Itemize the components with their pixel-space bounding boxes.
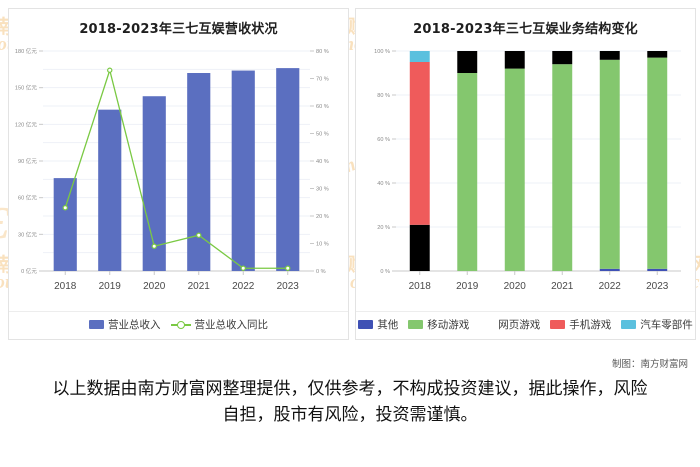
legend-swatch-icon bbox=[550, 320, 565, 329]
x-axis-label: 2023 bbox=[646, 281, 669, 292]
revenue-yoy-point bbox=[108, 68, 112, 72]
x-axis-label: 2019 bbox=[99, 281, 122, 292]
legend-item-other[interactable]: 其他 bbox=[358, 317, 398, 332]
revenue-bar bbox=[98, 110, 121, 271]
revenue-yoy-point bbox=[241, 266, 245, 270]
legend-label: 营业总收入同比 bbox=[195, 317, 269, 332]
legend-swatch-icon bbox=[408, 320, 423, 329]
business-structure-chart-legend: 其他移动游戏网页游戏手机游戏汽车零部件 bbox=[356, 311, 695, 339]
y-axis-label: 90 亿元 bbox=[18, 157, 37, 165]
legend-swatch-icon bbox=[358, 320, 373, 329]
stacked-bar-segment bbox=[410, 225, 430, 271]
legend-label: 汽车零部件 bbox=[640, 317, 693, 332]
x-axis-label: 2022 bbox=[232, 281, 255, 292]
stacked-bar-segment bbox=[410, 62, 430, 225]
legend-item-web-game[interactable]: 网页游戏 bbox=[479, 317, 540, 332]
legend-item-revenue[interactable]: 营业总收入 bbox=[89, 317, 161, 332]
legend-label: 其他 bbox=[377, 317, 398, 332]
stacked-bar-segment bbox=[457, 73, 477, 271]
revenue-yoy-point bbox=[286, 266, 290, 270]
stacked-bar-segment bbox=[552, 51, 572, 64]
revenue-bar bbox=[276, 68, 299, 271]
y2-axis-label: 40 % bbox=[316, 159, 329, 165]
stacked-bar-segment bbox=[552, 64, 572, 271]
legend-label: 营业总收入 bbox=[108, 317, 161, 332]
stacked-bar-segment bbox=[600, 51, 620, 60]
x-axis-label: 2021 bbox=[188, 281, 211, 292]
stacked-bar-segment bbox=[600, 60, 620, 269]
x-axis-label: 2023 bbox=[277, 281, 300, 292]
page-root: 南方财富网 southmoney.com Ɛ 南方财富网 southmoney.… bbox=[0, 0, 700, 467]
stacked-bar-segment bbox=[457, 51, 477, 73]
stacked-bar-segment bbox=[647, 58, 667, 269]
y2-axis-label: 20 % bbox=[316, 214, 329, 220]
x-axis-label: 2021 bbox=[551, 281, 574, 292]
x-axis-label: 2020 bbox=[504, 281, 527, 292]
y-axis-label: 0 % bbox=[380, 269, 390, 275]
y2-axis-label: 80 % bbox=[316, 49, 329, 55]
y2-axis-label: 0 % bbox=[316, 269, 326, 275]
revenue-plot-area: 0 亿元30 亿元60 亿元90 亿元120 亿元150 亿元180 亿元0 %… bbox=[9, 39, 348, 311]
y2-axis-label: 50 % bbox=[316, 132, 329, 138]
revenue-chart-legend: 营业总收入 营业总收入同比 bbox=[9, 311, 348, 339]
business-structure-chart-card: 2018-2023年三七互娱业务结构变化 0 %20 %40 %60 %80 %… bbox=[355, 8, 696, 340]
y-axis-label: 40 % bbox=[377, 181, 390, 187]
legend-swatch-icon bbox=[621, 320, 636, 329]
x-axis-label: 2019 bbox=[456, 281, 479, 292]
business-structure-plot-area: 0 %20 %40 %60 %80 %100 %2018201920202021… bbox=[356, 39, 695, 311]
revenue-yoy-point bbox=[63, 206, 67, 210]
x-axis-label: 2022 bbox=[599, 281, 622, 292]
revenue-chart-title: 2018-2023年三七互娱营收状况 bbox=[9, 18, 348, 37]
y2-axis-label: 10 % bbox=[316, 242, 329, 248]
legend-item-revenue-yoy[interactable]: 营业总收入同比 bbox=[171, 317, 269, 332]
legend-label: 手机游戏 bbox=[569, 317, 611, 332]
legend-item-phone-game[interactable]: 手机游戏 bbox=[550, 317, 611, 332]
stacked-bar-segment bbox=[410, 51, 430, 62]
x-axis-label: 2018 bbox=[54, 281, 77, 292]
legend-item-auto-parts[interactable]: 汽车零部件 bbox=[621, 317, 693, 332]
legend-swatch-icon bbox=[89, 320, 104, 329]
y-axis-label: 80 % bbox=[377, 93, 390, 99]
y-axis-label: 60 % bbox=[377, 137, 390, 143]
y-axis-label: 150 亿元 bbox=[15, 84, 37, 92]
y-axis-label: 120 亿元 bbox=[15, 120, 37, 128]
y-axis-label: 60 亿元 bbox=[18, 194, 37, 202]
y2-axis-label: 60 % bbox=[316, 104, 329, 110]
y2-axis-label: 70 % bbox=[316, 77, 329, 83]
x-axis-label: 2020 bbox=[143, 281, 166, 292]
legend-label: 移动游戏 bbox=[427, 317, 469, 332]
y-axis-label: 0 亿元 bbox=[21, 267, 37, 275]
credit-text: 制图：南方财富网 bbox=[612, 356, 688, 370]
revenue-chart-svg: 0 亿元30 亿元60 亿元90 亿元120 亿元150 亿元180 亿元0 %… bbox=[9, 39, 348, 301]
business-structure-chart-title: 2018-2023年三七互娱业务结构变化 bbox=[356, 18, 695, 37]
y-axis-label: 100 % bbox=[374, 49, 390, 55]
revenue-bar bbox=[54, 178, 77, 271]
business-structure-chart-svg: 0 %20 %40 %60 %80 %100 %2018201920202021… bbox=[356, 39, 695, 301]
charts-container: 2018-2023年三七互娱营收状况 0 亿元30 亿元60 亿元90 亿元12… bbox=[8, 8, 692, 340]
stacked-bar-segment bbox=[647, 51, 667, 58]
y-axis-label: 30 亿元 bbox=[18, 230, 37, 238]
legend-line-marker-icon bbox=[171, 320, 191, 329]
legend-swatch-icon bbox=[479, 320, 494, 329]
y-axis-label: 20 % bbox=[377, 225, 390, 231]
revenue-bar bbox=[232, 71, 255, 271]
x-axis-label: 2018 bbox=[409, 281, 432, 292]
stacked-bar-segment bbox=[505, 69, 525, 271]
disclaimer-text: 以上数据由南方财富网整理提供，仅供参考，不构成投资建议，据此操作，风险自担，股市… bbox=[46, 376, 654, 429]
legend-item-mobile-game[interactable]: 移动游戏 bbox=[408, 317, 469, 332]
y2-axis-label: 30 % bbox=[316, 187, 329, 193]
stacked-bar-segment bbox=[600, 269, 620, 271]
legend-label: 网页游戏 bbox=[498, 317, 540, 332]
stacked-bar-segment bbox=[647, 269, 667, 271]
revenue-chart-card: 2018-2023年三七互娱营收状况 0 亿元30 亿元60 亿元90 亿元12… bbox=[8, 8, 349, 340]
revenue-yoy-point bbox=[152, 244, 156, 248]
stacked-bar-segment bbox=[505, 51, 525, 69]
y-axis-label: 180 亿元 bbox=[15, 47, 37, 55]
revenue-yoy-point bbox=[197, 233, 201, 237]
